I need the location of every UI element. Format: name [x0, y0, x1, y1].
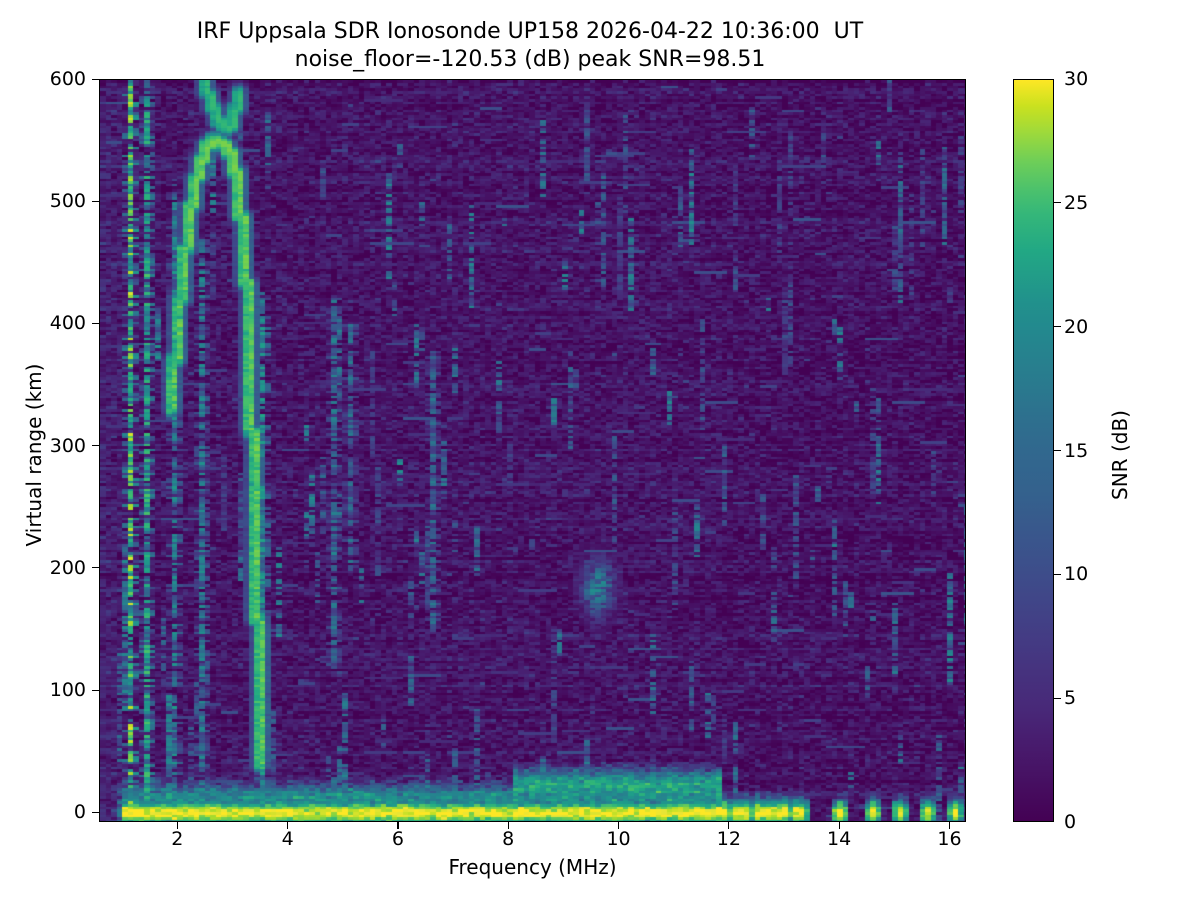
title-line-2: noise_floor=-120.53 (dB) peak SNR=98.51: [0, 46, 1060, 74]
figure-title: IRF Uppsala SDR Ionosonde UP158 2026-04-…: [0, 18, 1060, 74]
x-tick-label: 16: [937, 828, 961, 850]
y-tick-label: 600: [50, 68, 86, 90]
colorbar-tick-mark: [1054, 698, 1061, 699]
x-tick-mark: [508, 822, 509, 829]
y-tick-label: 300: [50, 435, 86, 457]
colorbar-tick-label: 20: [1064, 316, 1088, 338]
ionogram-plot-area[interactable]: [99, 79, 966, 822]
x-tick-mark: [397, 822, 398, 829]
colorbar-tick-mark: [1054, 574, 1061, 575]
y-tick-mark: [92, 812, 99, 813]
y-tick-mark: [92, 79, 99, 80]
x-tick-mark: [287, 822, 288, 829]
x-tick-mark: [177, 822, 178, 829]
colorbar-tick-label: 0: [1064, 811, 1076, 833]
y-axis-label: Virtual range (km): [22, 225, 46, 685]
x-tick-label: 2: [171, 828, 183, 850]
x-tick-label: 6: [392, 828, 404, 850]
y-tick-mark: [92, 445, 99, 446]
x-tick-mark: [949, 822, 950, 829]
colorbar[interactable]: [1013, 79, 1054, 822]
x-tick-mark: [728, 822, 729, 829]
x-tick-mark: [618, 822, 619, 829]
colorbar-gradient: [1014, 80, 1053, 821]
x-tick-mark: [839, 822, 840, 829]
x-tick-label: 4: [282, 828, 294, 850]
y-tick-label: 100: [50, 679, 86, 701]
y-tick-label: 400: [50, 312, 86, 334]
colorbar-label: SNR (dB): [1108, 255, 1132, 655]
colorbar-tick-label: 15: [1064, 440, 1088, 462]
x-tick-label: 12: [717, 828, 741, 850]
colorbar-tick-label: 30: [1064, 68, 1088, 90]
y-tick-mark: [92, 567, 99, 568]
title-line-1: IRF Uppsala SDR Ionosonde UP158 2026-04-…: [0, 18, 1060, 46]
y-tick-label: 500: [50, 190, 86, 212]
y-tick-mark: [92, 201, 99, 202]
y-tick-label: 200: [50, 557, 86, 579]
x-tick-label: 8: [502, 828, 514, 850]
y-tick-mark: [92, 690, 99, 691]
colorbar-tick-label: 25: [1064, 192, 1088, 214]
y-tick-mark: [92, 323, 99, 324]
colorbar-tick-label: 5: [1064, 687, 1076, 709]
colorbar-tick-mark: [1054, 326, 1061, 327]
ionogram-figure: IRF Uppsala SDR Ionosonde UP158 2026-04-…: [0, 0, 1200, 900]
y-tick-label: 0: [74, 801, 86, 823]
colorbar-tick-mark: [1054, 202, 1061, 203]
colorbar-tick-label: 10: [1064, 563, 1088, 585]
ionogram-heatmap[interactable]: [100, 80, 966, 822]
x-axis-label: Frequency (MHz): [99, 855, 966, 879]
x-tick-label: 10: [606, 828, 630, 850]
x-tick-label: 14: [827, 828, 851, 850]
colorbar-tick-mark: [1054, 450, 1061, 451]
